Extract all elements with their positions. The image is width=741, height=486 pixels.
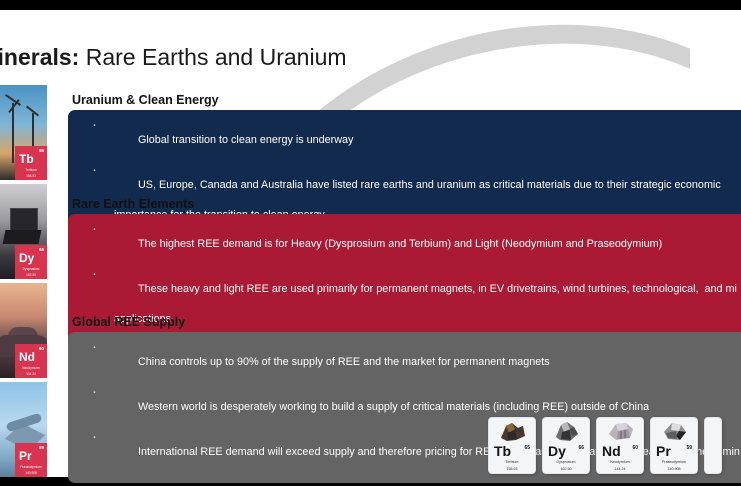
mineral-card-nd: Nd 60 Neodymium 144.24: [596, 417, 644, 474]
atomic-weight: 144.24: [597, 467, 643, 471]
mineral-specimen-icon: [498, 420, 528, 442]
photo-wind-turbines: 65 Tb Terbium 158.93: [0, 85, 47, 180]
slide-canvas: cal Minerals: Rare Earths and Uranium Ur…: [0, 0, 741, 486]
page-title-bold: cal Minerals:: [0, 44, 79, 70]
mineral-card-pr: Pr 59 Praseodymium 140.908: [650, 417, 698, 474]
section-heading-ree: Rare Earth Elements: [72, 197, 194, 211]
bullet-text: These heavy and light REE are used prima…: [138, 283, 737, 295]
atomic-number: 65: [39, 148, 44, 153]
mineral-card-row: Tb 65 Terbium 158.93 Dy 66 Dysprosium 16…: [488, 417, 722, 474]
laptop-base-icon: [3, 230, 42, 244]
laptop-screen-icon: [10, 208, 38, 232]
atomic-weight: 140.908: [15, 471, 47, 475]
bullet-text: Western world is desperately working to …: [138, 401, 649, 413]
photo-laptop: 66 Dy Dysprosium 162.50: [0, 184, 47, 279]
element-symbol: Dy: [548, 444, 566, 459]
mineral-card-dy: Dy 66 Dysprosium 162.50: [542, 417, 590, 474]
element-name: Terbium: [15, 168, 47, 172]
atomic-number: 60: [632, 445, 638, 451]
element-name: Praseodymium: [15, 465, 47, 469]
element-symbol: Nd: [602, 444, 621, 459]
atomic-weight: 158.93: [489, 467, 535, 471]
element-name: Praseodymium: [651, 460, 697, 464]
mineral-card-tb: Tb 65 Terbium 158.93: [488, 417, 536, 474]
element-name: Dysprosium: [15, 267, 47, 271]
atomic-weight: 162.50: [15, 273, 47, 277]
list-item: China controls up to 90% of the supply o…: [84, 340, 741, 385]
mineral-card-partial: [704, 417, 722, 474]
element-symbol: Tb: [494, 444, 511, 459]
element-symbol: Pr: [19, 450, 32, 463]
element-symbol: Tb: [19, 153, 34, 166]
atomic-number: 66: [578, 445, 584, 451]
mineral-specimen-icon: [552, 420, 582, 442]
bullet-text: Global transition to clean energy is und…: [138, 134, 353, 146]
element-badge-dy: 66 Dy Dysprosium 162.50: [15, 245, 47, 279]
section-heading-supply: Global REE Supply: [72, 315, 185, 329]
bullet-text: US, Europe, Canada and Australia have li…: [138, 179, 721, 191]
mineral-specimen-icon: [606, 420, 636, 442]
bullet-text-continuation: applications: [114, 312, 741, 327]
mineral-specimen-icon: [660, 420, 690, 442]
atomic-weight: 158.93: [15, 174, 47, 178]
element-symbol: Dy: [19, 252, 34, 265]
section-heading-uranium: Uranium & Clean Energy: [72, 93, 219, 107]
atomic-number: 65: [524, 445, 530, 451]
bullet-text: The highest REE demand is for Heavy (Dys…: [138, 238, 662, 250]
element-name: Dysprosium: [543, 460, 589, 464]
photo-electric-car: 60 Nd Neodymium 144.24: [0, 283, 47, 378]
atomic-number: 66: [39, 247, 44, 252]
atomic-number: 59: [686, 445, 692, 451]
page-title: cal Minerals: Rare Earths and Uranium: [0, 42, 460, 72]
bullet-text: China controls up to 90% of the supply o…: [138, 356, 550, 368]
element-badge-nd: 60 Nd Neodymium 144.24: [15, 344, 47, 378]
letterbox-bar-top: [0, 0, 741, 10]
atomic-weight: 140.908: [651, 467, 697, 471]
element-name: Terbium: [489, 460, 535, 464]
element-badge-pr: 59 Pr Praseodymium 140.908: [15, 443, 47, 477]
atomic-weight: 144.24: [15, 372, 47, 376]
page-title-light: Rare Earths and Uranium: [79, 44, 346, 70]
list-item: Global transition to clean energy is und…: [84, 118, 741, 163]
element-photo-strip: 65 Tb Terbium 158.93 66 Dy Dysprosium 16…: [0, 85, 47, 481]
atomic-number: 60: [39, 346, 44, 351]
turbine-mast-icon: [12, 103, 14, 163]
photo-fighter-jet: 59 Pr Praseodymium 140.908: [0, 382, 47, 477]
list-item: The highest REE demand is for Heavy (Dys…: [84, 222, 741, 267]
atomic-number: 59: [39, 445, 44, 450]
element-symbol: Pr: [656, 444, 671, 459]
element-badge-tb: 65 Tb Terbium 158.93: [15, 146, 47, 180]
element-symbol: Nd: [19, 351, 35, 364]
element-name: Neodymium: [15, 366, 47, 370]
element-name: Neodymium: [597, 460, 643, 464]
atomic-weight: 162.50: [543, 467, 589, 471]
